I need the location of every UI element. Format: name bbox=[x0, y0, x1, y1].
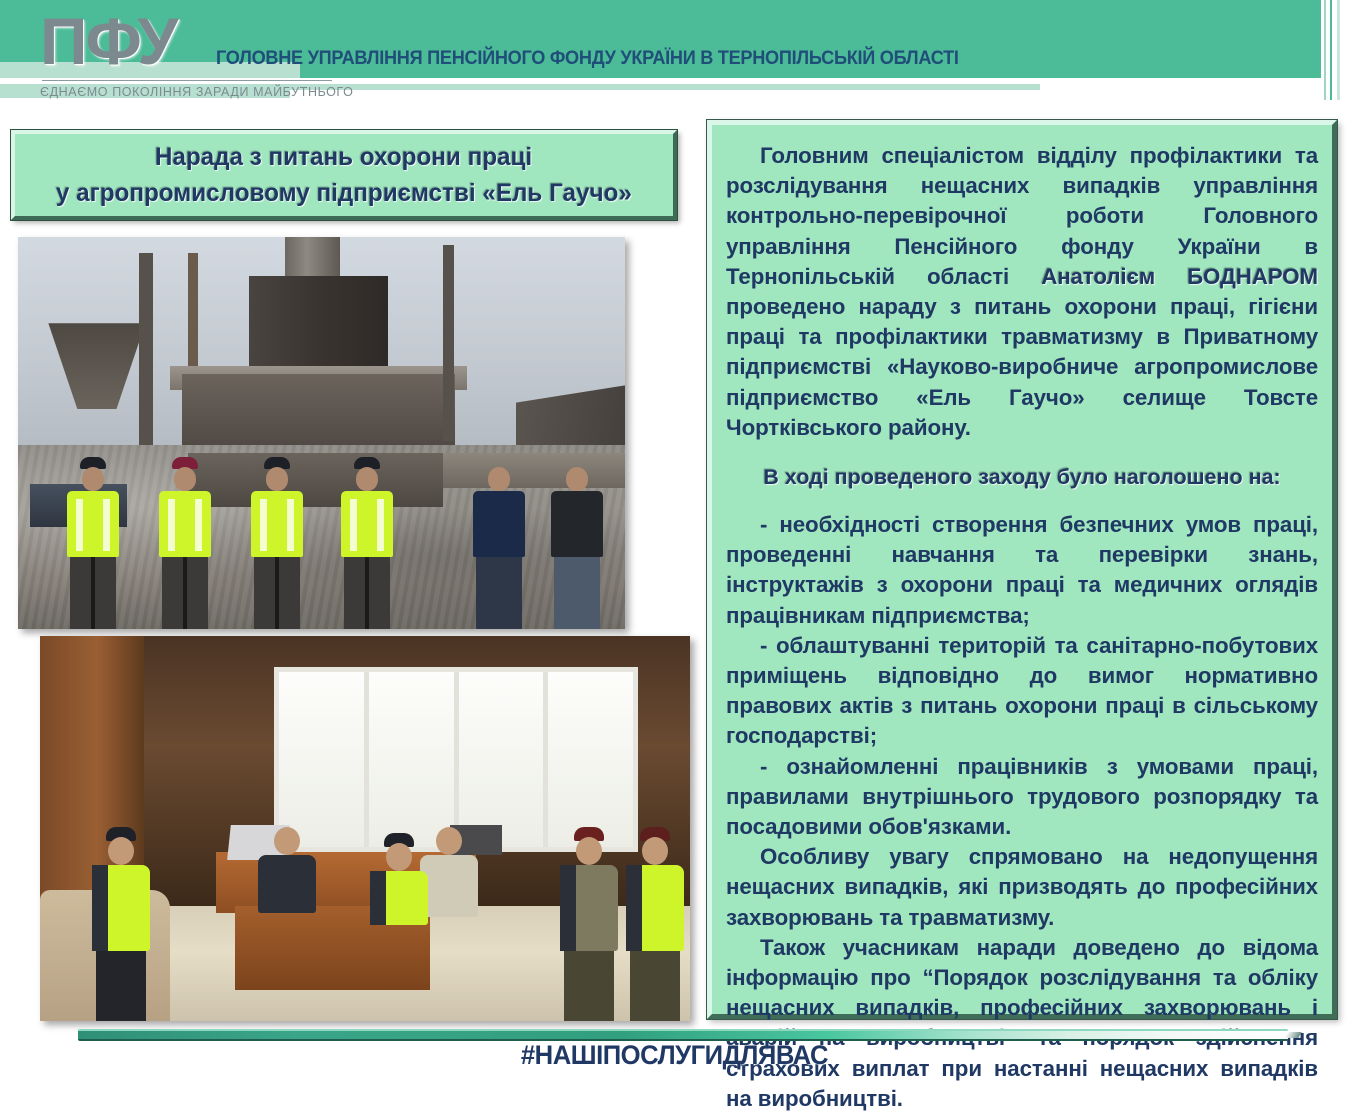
photo1-visitor-1 bbox=[462, 467, 536, 629]
worker-legs bbox=[254, 557, 300, 629]
visitor-head bbox=[488, 467, 510, 491]
hi-vis-vest bbox=[92, 865, 150, 951]
photo1-tower-left bbox=[139, 253, 152, 449]
photo1-worker-1 bbox=[56, 457, 130, 629]
attendee-torso bbox=[258, 855, 316, 913]
pfu-logo-slogan: ЄДНАЄМО ПОКОЛІННЯ ЗАРАДИ МАЙБУТНЬОГО bbox=[40, 85, 370, 99]
bullet-1: - необхідності створення безпечних умов … bbox=[726, 510, 1318, 631]
photo2-attendee-4 bbox=[560, 827, 618, 1021]
attendee-legs bbox=[564, 951, 614, 1021]
slide-title-box: Нарада з питань охорони праці у агропром… bbox=[11, 130, 677, 220]
photo2-attendee-1 bbox=[258, 827, 316, 913]
attendee-head bbox=[576, 837, 602, 865]
photo1-visitor-2 bbox=[540, 467, 614, 629]
photo2-speaker bbox=[92, 827, 150, 1021]
photo2-attendee-2 bbox=[420, 827, 478, 917]
window-pane bbox=[459, 672, 549, 847]
dark-jacket bbox=[551, 491, 603, 557]
header-decor-stripes-icon bbox=[1321, 0, 1349, 100]
attendee-legs bbox=[630, 951, 680, 1021]
photo1-barn-base bbox=[188, 453, 443, 508]
slide-title-line-1: Нарада з питань охорони праці bbox=[155, 139, 532, 175]
hi-vis-vest bbox=[626, 865, 684, 951]
attendee-head bbox=[386, 843, 412, 871]
highlighted-name: Анатолієм БОДНАРОМ bbox=[1041, 264, 1318, 289]
visitor-legs bbox=[476, 557, 522, 629]
window-pane bbox=[548, 672, 633, 847]
visitor-legs bbox=[554, 557, 600, 629]
slide-title-line-2: у агропромисловому підприємстві «Ель Гау… bbox=[56, 175, 632, 211]
hi-vis-vest bbox=[341, 491, 393, 557]
bullet-2: - облаштуванні територій та санітарно-по… bbox=[726, 631, 1318, 752]
bullet-3: - ознайомленні працівників з умовами пра… bbox=[726, 752, 1318, 843]
photo2-attendee-5 bbox=[626, 827, 684, 1021]
hi-vis-vest bbox=[251, 491, 303, 557]
attendee-head bbox=[436, 827, 462, 855]
worker-legs bbox=[344, 557, 390, 629]
window-pane bbox=[369, 672, 459, 847]
hi-vis-vest bbox=[370, 871, 428, 925]
meeting-room-photo bbox=[40, 636, 690, 1021]
speaker-legs bbox=[96, 951, 146, 1021]
attendee-torso bbox=[420, 855, 478, 917]
worker-legs bbox=[162, 557, 208, 629]
paragraph-intro-text-cont: проведено нараду з питань охорони праці,… bbox=[726, 294, 1318, 440]
footer-hashtag: #НАШІПОСЛУГИДЛЯВАС bbox=[34, 1040, 1316, 1071]
logo-divider bbox=[42, 80, 332, 81]
hi-vis-vest bbox=[159, 491, 211, 557]
organisation-title: ГОЛОВНЕ УПРАВЛІННЯ ПЕНСІЙНОГО ФОНДУ УКРА… bbox=[216, 47, 959, 70]
photo1-worker-2 bbox=[148, 457, 222, 629]
paragraph-procedure: Також учасникам наради доведено до відом… bbox=[726, 933, 1318, 1114]
worker-head bbox=[266, 467, 288, 491]
paragraph-attention: Особливу увагу спрямовано на недопущення… bbox=[726, 842, 1318, 933]
jacket bbox=[560, 865, 618, 951]
worker-head bbox=[356, 467, 378, 491]
header-white-band-lower bbox=[290, 90, 1310, 100]
worker-head bbox=[82, 467, 104, 491]
page-header: ПФУ ЄДНАЄМО ПОКОЛІННЯ ЗАРАДИ МАЙБУТНЬОГО… bbox=[0, 0, 1349, 118]
worker-head bbox=[174, 467, 196, 491]
blue-jacket bbox=[473, 491, 525, 557]
photo1-worker-3 bbox=[240, 457, 314, 629]
attendee-head bbox=[642, 837, 668, 865]
hi-vis-vest bbox=[67, 491, 119, 557]
article-text-panel: Головним спеціалістом відділу профілакти… bbox=[707, 120, 1337, 1019]
photo1-tower-right bbox=[443, 245, 454, 441]
window-pane bbox=[279, 672, 369, 847]
worker-legs bbox=[70, 557, 116, 629]
outdoor-industrial-photo bbox=[18, 237, 625, 629]
section-heading: В ході проведеного заходу було наголошен… bbox=[726, 465, 1318, 490]
visitor-head bbox=[566, 467, 588, 491]
photo1-worker-4 bbox=[330, 457, 404, 629]
paragraph-intro: Головним спеціалістом відділу профілакти… bbox=[726, 141, 1318, 443]
attendee-head bbox=[274, 827, 300, 855]
speaker-head bbox=[108, 837, 134, 865]
photo2-attendee-3 bbox=[370, 833, 428, 925]
